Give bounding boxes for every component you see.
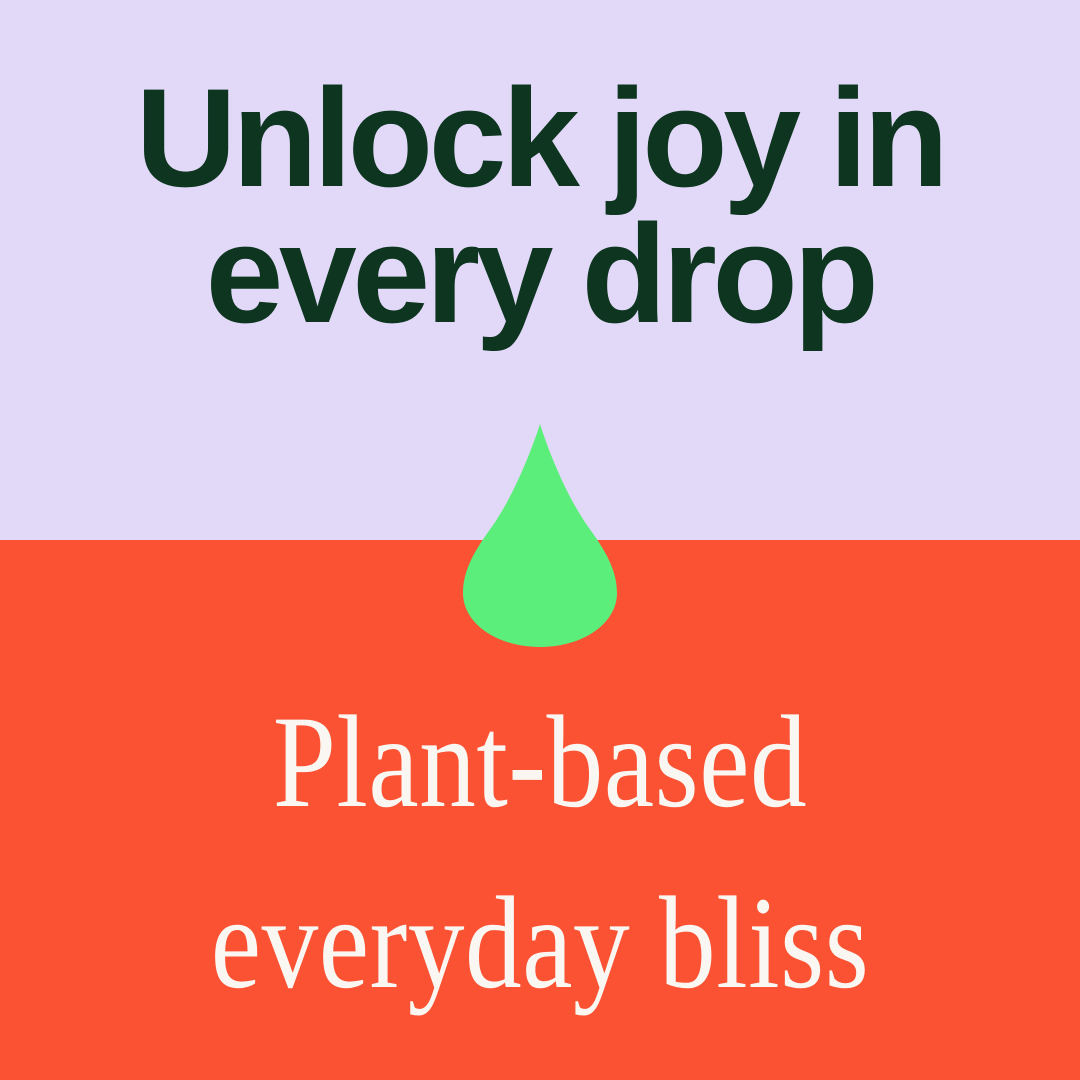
promotional-poster: Unlock joy in every drop Plant-based eve… — [0, 0, 1080, 1080]
headline-line-2: every drop — [0, 206, 1080, 342]
headline-line-1: Unlock joy in — [0, 70, 1080, 206]
subheadline-line-1: Plant-based — [76, 672, 1005, 853]
headline: Unlock joy in every drop — [0, 70, 1080, 342]
subheadline-line-2: everyday bliss — [76, 853, 1005, 1034]
water-droplet-icon — [463, 424, 617, 647]
subheadline: Plant-based everyday bliss — [76, 672, 1005, 1034]
droplet-shape — [463, 424, 617, 647]
